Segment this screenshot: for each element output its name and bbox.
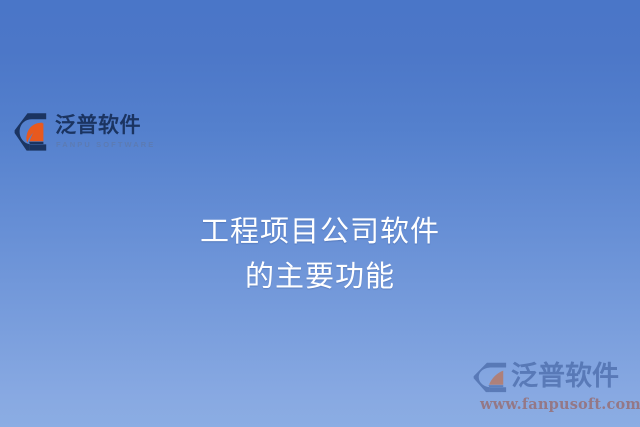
brand-name-en: FANPU SOFTWARE [56,139,155,150]
brand-name-cn: 泛普软件 [55,113,155,137]
brand-wordmark: 泛普软件 FANPU SOFTWARE [55,110,155,150]
page-title-line-1: 工程项目公司软件 [0,209,640,254]
watermark-logo-row: 泛普软件 [472,359,632,395]
watermark: 泛普软件 www.fanpusoft.com [472,359,632,417]
page-title: 工程项目公司软件 的主要功能 [0,209,640,299]
fanpu-logo-mark-icon [472,361,509,394]
watermark-url: www.fanpusoft.com [472,396,632,414]
page-title-line-2: 的主要功能 [0,254,640,299]
slide-canvas: 泛普软件 FANPU SOFTWARE 工程项目公司软件 的主要功能 泛普软件 … [0,0,640,427]
watermark-name-cn: 泛普软件 [511,362,619,392]
fanpu-logo-mark-icon [13,111,49,153]
brand-logo: 泛普软件 FANPU SOFTWARE [13,110,143,160]
